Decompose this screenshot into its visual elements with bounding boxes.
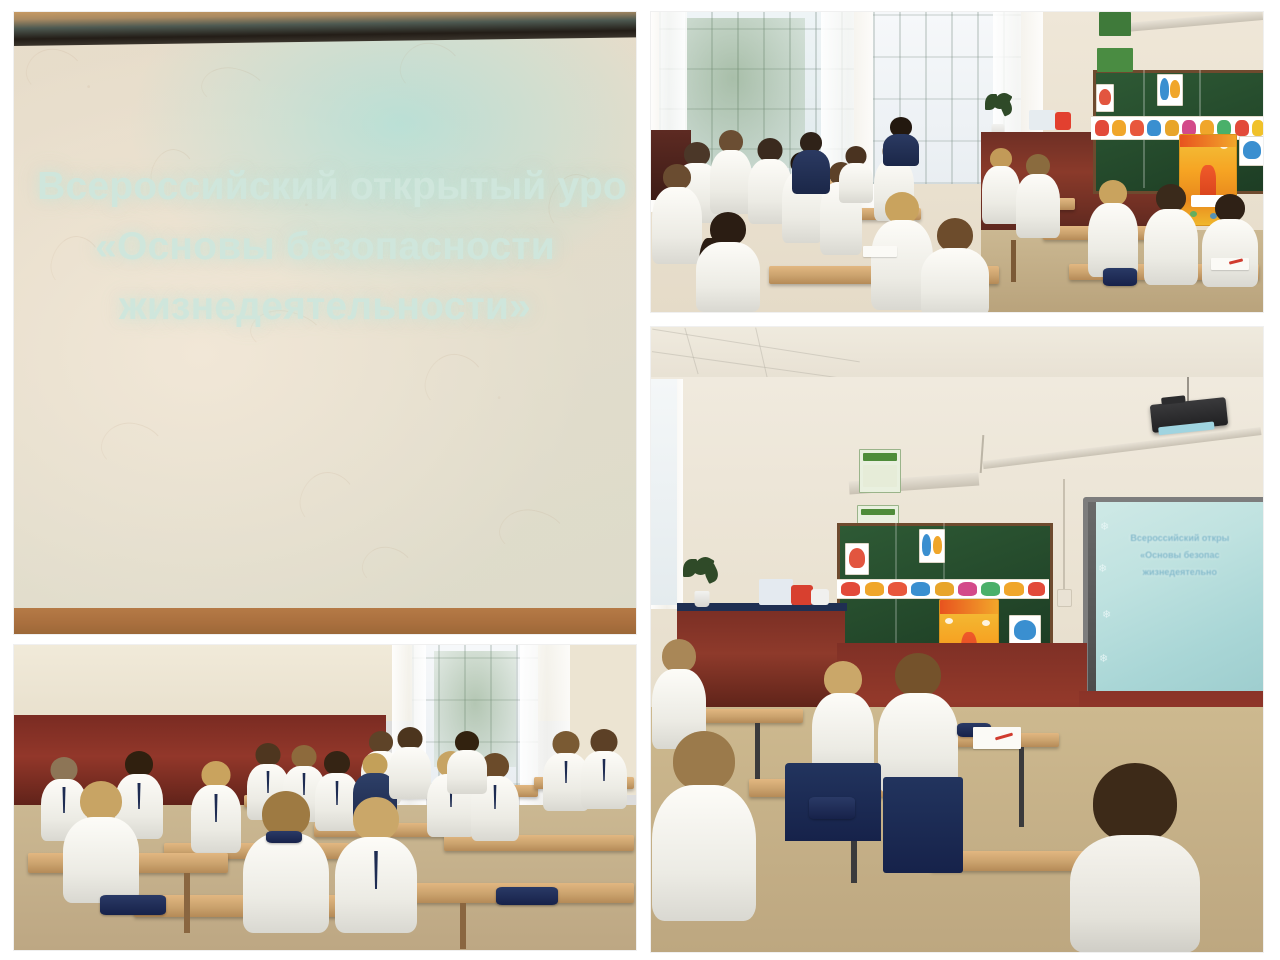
pupil <box>1015 154 1061 236</box>
pupil <box>580 729 628 809</box>
pupil-front-center-1 <box>242 791 330 933</box>
window-left <box>651 379 677 605</box>
projection-screen-photo: Всероссийский открытый уро «Основы безоп… <box>14 12 636 634</box>
pupil <box>919 218 991 312</box>
slide-title-line-3: жизнедеятельности» <box>14 282 636 332</box>
kid-drawing-3 <box>1009 615 1041 645</box>
slide-title-line-1: Всероссийский открытый уро <box>28 162 636 212</box>
school-bag <box>496 887 558 905</box>
pupil <box>190 761 242 853</box>
pupil <box>693 212 763 312</box>
pupil <box>811 661 875 779</box>
slide-title-line-2: «Основы безопасности <box>14 222 636 272</box>
pupil <box>1087 180 1139 276</box>
whiteboard-line-1: Всероссийский откры <box>1099 530 1261 547</box>
interactive-whiteboard[interactable]: ❄ ❄ ❄ ❄ Всероссийский откры «Основы безо… <box>1083 497 1263 707</box>
classroom-front-photo <box>14 645 636 950</box>
notebook <box>863 246 897 257</box>
kid-drawing-1 <box>845 543 869 575</box>
pupil-front-left <box>62 781 140 903</box>
pupil <box>1143 184 1199 284</box>
shelf-box-1 <box>1029 110 1055 130</box>
whiteboard-line-2: «Основы безопас <box>1099 547 1261 564</box>
pupil <box>651 731 757 921</box>
wall-card-top <box>1099 12 1131 36</box>
snowflake-icon: ❄ <box>1102 608 1111 621</box>
pupil <box>1201 194 1259 286</box>
slide-title-text: Всероссийский открытый уро «Основы безоп… <box>14 162 636 332</box>
cabinet-item-2 <box>791 585 813 605</box>
school-bag <box>266 831 302 843</box>
shelf-box-2 <box>1055 112 1071 130</box>
cable-drop <box>1063 479 1065 607</box>
kid-drawing-2 <box>919 529 945 563</box>
school-bag <box>1103 268 1137 286</box>
desk-leg-1 <box>1011 240 1016 282</box>
childrens-art-strip <box>837 579 1049 599</box>
whiteboard-bezel-left <box>1088 502 1096 702</box>
pupil <box>881 117 921 165</box>
chair <box>883 777 963 873</box>
snowflake-icon: ❄ <box>1099 652 1108 665</box>
wall-card-mid <box>1097 48 1133 72</box>
kid-drawing-1 <box>1096 84 1114 112</box>
classroom-wide-photo <box>651 12 1263 312</box>
cabinet-item-1 <box>759 579 793 605</box>
desk-leg-2 <box>460 903 466 949</box>
pupil <box>791 132 831 192</box>
kid-drawing-3 <box>1239 136 1263 166</box>
pupil-front-center-2 <box>334 797 418 933</box>
whiteboard-slide-text: Всероссийский откры «Основы безопас жизн… <box>1099 530 1261 581</box>
photo-collage: Всероссийский открытый уро «Основы безоп… <box>0 0 1280 960</box>
classroom-board-photo: ❄ ❄ ❄ ❄ Всероссийский откры «Основы безо… <box>651 327 1263 952</box>
wall-card-top <box>859 449 901 493</box>
school-bag <box>100 895 166 915</box>
plant-icon <box>679 559 725 607</box>
wall-socket <box>1057 589 1072 607</box>
desk-leg <box>1019 747 1024 827</box>
pupil <box>877 653 959 793</box>
pupil <box>837 146 875 202</box>
desk-leg-1 <box>184 873 190 933</box>
kid-drawing-2 <box>1157 74 1183 106</box>
cabinet-item-3 <box>811 589 829 605</box>
pupil-foreground <box>1069 763 1201 952</box>
screen-bottom-trim <box>14 608 636 634</box>
desk-left-back <box>691 709 803 723</box>
whiteboard-line-3: жизнедеятельно <box>1099 564 1261 581</box>
pupil <box>446 731 488 793</box>
childrens-art-strip <box>1091 116 1263 140</box>
school-bag <box>809 797 855 819</box>
